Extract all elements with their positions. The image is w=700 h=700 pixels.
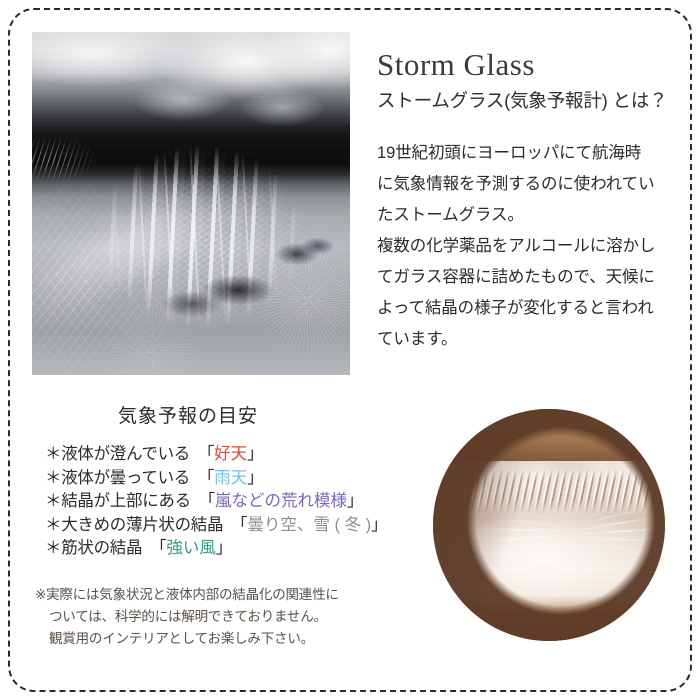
forecast-item-keyword: 曇り空、雪 ( 冬 ) [247,516,371,534]
forecast-item-open-bracket: 「 [223,516,247,534]
intro-body-text: 19世紀初頭にヨーロッパにて航海時 に気象情報を予測するのに使われてい たストー… [377,138,677,355]
footnote-line: ※実際には気象状況と液体内部の結晶化の関連性に [35,584,380,606]
forecast-item-open-bracket: 「 [190,469,214,487]
forecast-item-keyword: 雨天 [214,469,247,487]
intro-line: に気象情報を予測するのに使われてい [377,169,677,200]
forecast-item-open-bracket: 「 [191,492,215,510]
footnote-line: 観賞用のインテリアとしてお楽しみ下さい。 [35,628,380,650]
storm-glass-closeup-photo [433,409,665,641]
storm-glass-infographic: Storm Glass ストームグラス(気象予報計) とは？ 19世紀初頭にヨー… [0,0,700,700]
forecast-item-marker: ＊ [45,539,61,557]
forecast-item-marker: ＊ [45,492,61,510]
intro-line: ています。 [377,324,677,355]
forecast-item-marker: ＊ [45,469,61,487]
forecast-guide-section: 気象予報の目安 ＊液体が澄んでいる 「好天」＊液体が曇っている 「雨天」＊結晶が… [32,404,372,561]
page-title-english: Storm Glass [377,46,677,84]
forecast-item-close-bracket: 」 [371,516,387,534]
page-subtitle-japanese: ストームグラス(気象予報計) とは？ [377,88,677,114]
forecast-item-keyword: 強い風 [166,539,216,557]
forecast-item-condition: 大きめの薄片状の結晶 [61,516,223,534]
glass-photo-grain-overlay [433,409,665,641]
intro-section: Storm Glass ストームグラス(気象予報計) とは？ 19世紀初頭にヨー… [377,46,677,355]
forecast-item-close-bracket: 」 [347,492,363,510]
intro-line: てガラス容器に詰めたもので、天候に [377,262,677,293]
intro-line: たストームグラス。 [377,200,677,231]
forecast-item-open-bracket: 「 [142,539,166,557]
forecast-item-close-bracket: 」 [247,445,263,463]
forecast-guide-item: ＊液体が曇っている 「雨天」 [32,467,372,491]
intro-line: 複数の化学薬品をアルコールに溶かし [377,231,677,262]
forecast-item-close-bracket: 」 [216,539,232,557]
intro-line: 19世紀初頭にヨーロッパにて航海時 [377,138,677,169]
forecast-item-marker: ＊ [45,445,61,463]
footnote-disclaimer: ※実際には気象状況と液体内部の結晶化の関連性に ついては、科学的には解明できてお… [35,584,380,650]
forecast-guide-heading: 気象予報の目安 [32,404,372,430]
forecast-item-condition: 結晶が上部にある [61,492,191,510]
footnote-line: ついては、科学的には解明できておりません。 [35,606,380,628]
photo-grain-overlay [32,32,350,375]
forecast-guide-item: ＊筋状の結晶 「強い風」 [32,537,372,561]
forecast-guide-item: ＊大きめの薄片状の結晶 「曇り空、雪 ( 冬 )」 [32,514,372,538]
forecast-item-close-bracket: 」 [247,469,263,487]
forecast-item-open-bracket: 「 [190,445,214,463]
forecast-guide-item: ＊液体が澄んでいる 「好天」 [32,443,372,467]
forecast-item-condition: 液体が澄んでいる [61,445,190,463]
forecast-item-condition: 筋状の結晶 [61,539,142,557]
forecast-item-keyword: 好天 [214,445,247,463]
forecast-guide-item: ＊結晶が上部にある 「嵐などの荒れ模様」 [32,490,372,514]
intro-line: よって結晶の様子が変化すると言われ [377,293,677,324]
frost-crystal-macro-photo [32,32,350,375]
forecast-item-marker: ＊ [45,516,61,534]
forecast-item-keyword: 嵐などの荒れ模様 [215,492,347,510]
forecast-item-condition: 液体が曇っている [61,469,190,487]
forecast-guide-list: ＊液体が澄んでいる 「好天」＊液体が曇っている 「雨天」＊結晶が上部にある 「嵐… [32,443,372,561]
